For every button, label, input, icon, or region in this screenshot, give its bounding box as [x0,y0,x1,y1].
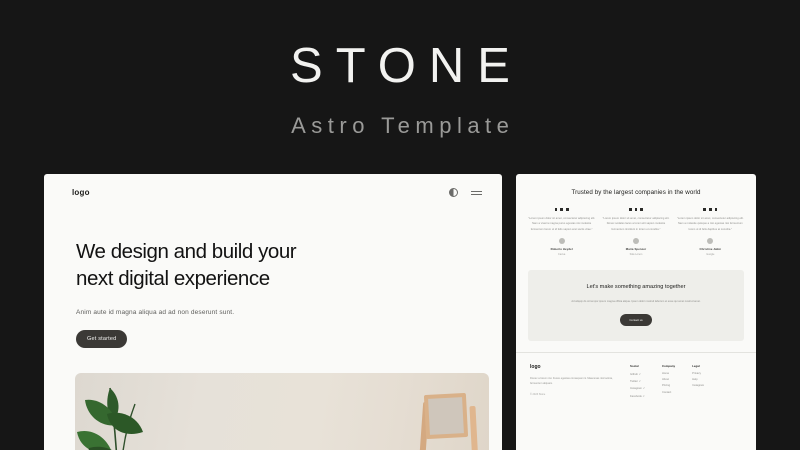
hero-image [75,373,489,450]
plant-icon [77,373,197,450]
footer-column-heading: Company [662,364,675,368]
testimonial-quote: "Lorem ipsum dolor sit amet, consectetur… [602,216,669,232]
hero-copy-block: We design and build your next digital ex… [44,197,502,348]
contrast-icon[interactable] [449,188,458,197]
footer-column-social: Social Github ↗ Twitter ↗ Instagram ↗ Fa… [630,364,645,402]
rating-stars-icon [528,208,595,211]
footer-link[interactable]: Github ↗ [630,372,645,376]
get-started-button[interactable]: Get started [76,330,127,348]
rating-stars-icon [602,208,669,211]
testimonial-role: Google [677,253,744,256]
testimonial-card: "Lorem ipsum dolor sit amet, consectetur… [602,208,669,255]
trusted-section: Trusted by the largest companies in the … [516,174,756,198]
footer: logo Donec a lorem nisi. Fusce egestas c… [516,352,756,402]
footer-link[interactable]: Privacy [692,372,704,375]
chair-back [424,393,468,439]
contact-us-button[interactable]: Contact us [620,314,651,326]
footer-copyright: © 2023 Stone [530,393,616,396]
avatar [707,238,713,244]
testimonial-role: Side Lorem [602,253,669,256]
site-logo[interactable]: logo [72,188,90,197]
menu-icon-bar [471,191,482,192]
footer-link[interactable]: Instagram ↗ [630,386,645,390]
hero-heading: We design and build your next digital ex… [76,239,316,292]
menu-icon[interactable] [471,191,482,195]
footer-link-columns: Social Github ↗ Twitter ↗ Instagram ↗ Fa… [624,364,742,402]
hero-subtext: Anim aute id magna aliqua ad ad non dese… [76,309,474,316]
footer-link[interactable]: Instagram [692,384,704,387]
testimonial-name: Maria Spencer [602,247,669,251]
testimonial-role: Canva [528,253,595,256]
navbar-icons [449,188,482,197]
testimonials-row: "Lorem ipsum dolor sit amet, consectetur… [516,198,756,255]
avatar [559,238,565,244]
testimonial-quote: "Lorem ipsum dolor sit amet, consectetur… [528,216,595,232]
cta-section: Let's make something amazing together Ad… [528,270,744,341]
testimonial-card: "Lorem ipsum dolor sit amet, consectetur… [528,208,595,255]
footer-brand: logo Donec a lorem nisi. Fusce egestas c… [530,364,616,402]
footer-link[interactable]: Home [662,372,675,375]
trusted-title: Trusted by the largest companies in the … [532,188,740,198]
avatar [633,238,639,244]
footer-link[interactable]: Contact [662,391,675,394]
footer-link[interactable]: Facebook ↗ [630,394,645,398]
footer-column-legal: Legal Privacy Help Instagram [692,364,704,402]
left-panel-navbar: logo [44,174,502,197]
footer-link[interactable]: Pricing [662,384,675,387]
testimonial-name: Christine Jabin [677,247,744,251]
footer-column-heading: Social [630,364,645,368]
footer-column-heading: Legal [692,364,704,368]
chair-graphic [417,394,475,450]
page-title: STONE [277,42,523,91]
testimonial-name: Roberto Heydel [528,247,595,251]
footer-column-company: Company Home About Pricing Contact [662,364,675,402]
footer-logo[interactable]: logo [530,364,616,370]
footer-link[interactable]: Help [692,378,704,381]
footer-link[interactable]: Twitter ↗ [630,379,645,383]
cta-subtitle: Ad aliquip do sit tempor ipsum magna off… [544,299,728,304]
rating-stars-icon [677,208,744,211]
hero-block: STONE Astro Template [0,0,800,174]
page-subtitle: Astro Template [286,113,515,139]
testimonial-card: "Lorem ipsum dolor sit amet, consectetur… [677,208,744,255]
footer-description: Donec a lorem nisi. Fusce egestas conseq… [530,376,616,387]
footer-link[interactable]: About [662,378,675,381]
preview-panel-right: Trusted by the largest companies in the … [516,174,756,450]
menu-icon-bar [471,194,482,195]
cta-title: Let's make something amazing together [544,283,728,293]
testimonial-quote: "Lorem ipsum dolor sit amet, consectetur… [677,216,744,232]
